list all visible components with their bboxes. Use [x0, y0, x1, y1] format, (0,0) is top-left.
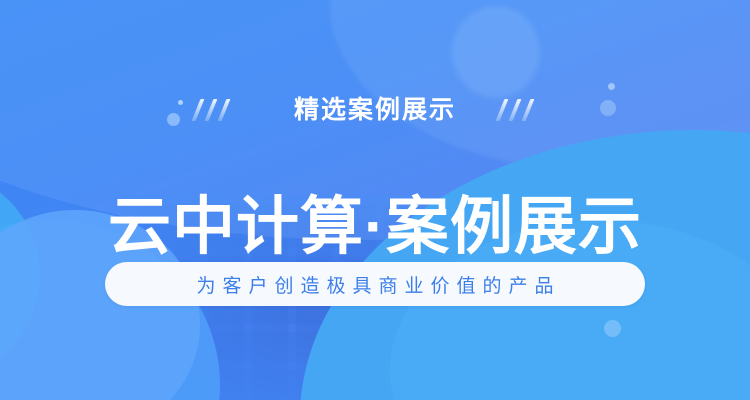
tagline-pill: 为客户创造极具商业价值的产品: [105, 262, 645, 306]
background-circle-center-top: [452, 6, 540, 98]
banner-subtitle: 精选案例展示: [0, 93, 750, 127]
decorative-dot-small-right: [608, 83, 615, 90]
promo-banner: 精选案例展示 云中计算·案例展示 为客户创造极具商业价值的产品: [0, 0, 750, 400]
banner-title: 云中计算·案例展示: [0, 188, 750, 266]
decorative-dot-bottom-right: [604, 320, 621, 337]
tagline-text: 为客户创造极具商业价值的产品: [189, 271, 560, 298]
